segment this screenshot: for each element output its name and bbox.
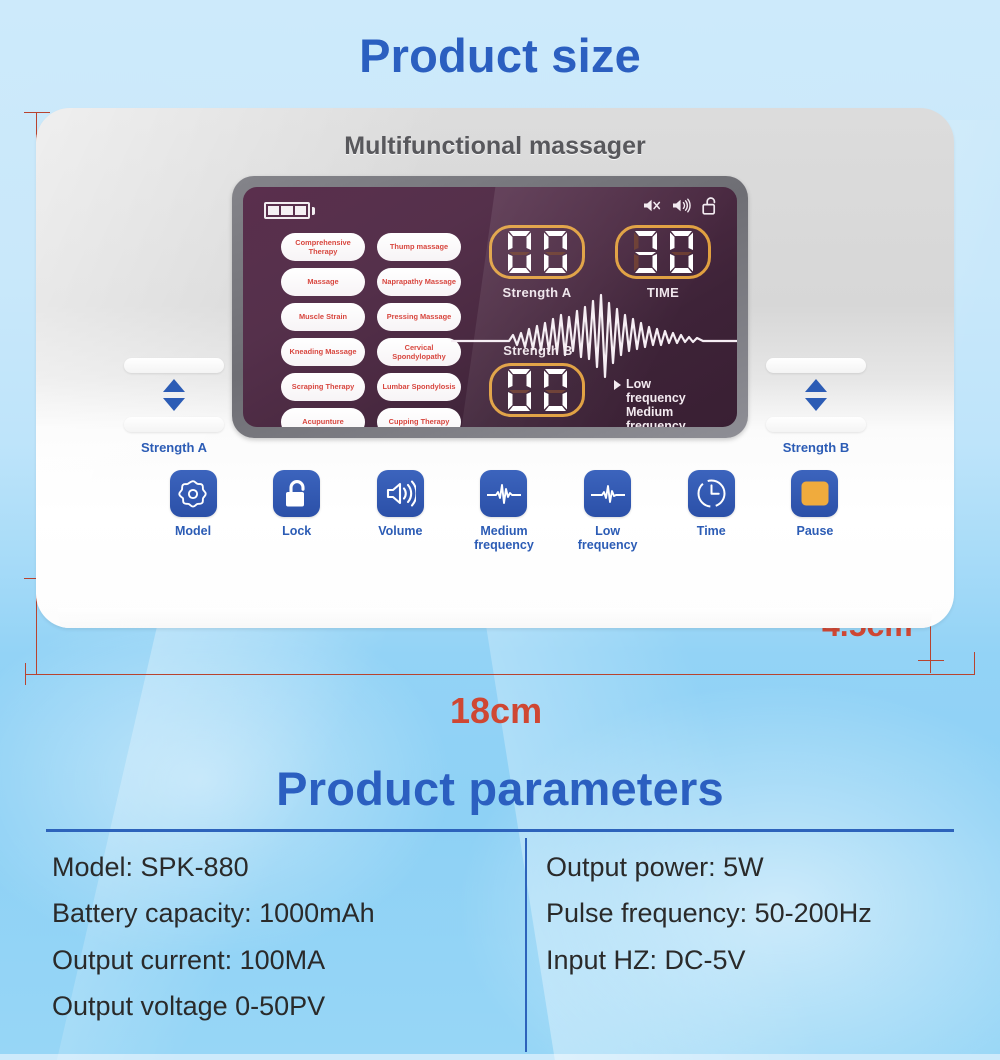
control-button-label: Mediumfrequency <box>465 524 543 552</box>
therapy-mode-button[interactable]: Cervical Spondylopathy <box>377 338 461 366</box>
control-button-label: Pause <box>776 524 854 538</box>
control-button-label: Time <box>672 524 750 538</box>
control-button-medium[interactable]: Mediumfrequency <box>465 470 543 552</box>
battery-icon <box>264 202 315 219</box>
therapy-mode-button[interactable]: Pressing Massage <box>377 303 461 331</box>
massager-device: Multifunctional massager <box>36 108 954 628</box>
parameters-section: Model: SPK-880Battery capacity: 1000mAhO… <box>46 829 954 1030</box>
dimension-tick-width-left <box>25 663 26 685</box>
control-button-label: Lock <box>258 524 336 538</box>
device-base-upper <box>58 608 932 628</box>
therapy-mode-button[interactable]: Kneading Massage <box>281 338 365 366</box>
parameters-column-1: Model: SPK-880Battery capacity: 1000mAhO… <box>46 844 500 1030</box>
unlock-icon <box>702 196 719 220</box>
therapy-mode-button[interactable]: Massage <box>281 268 365 296</box>
frequency-options-list: LowfrequencyMediumfrequency <box>614 377 686 427</box>
strength-b-label: Strength B <box>766 440 866 455</box>
dimension-line-width <box>25 674 975 675</box>
pause-square-icon <box>791 470 838 517</box>
device-brand-title: Multifunctional massager <box>36 132 954 161</box>
control-button-volume[interactable]: Volume <box>361 470 439 552</box>
therapy-mode-column-2: Thump massageNaprapathy MassagePressing … <box>377 233 461 427</box>
parameter-item: Battery capacity: 1000mAh <box>52 890 500 936</box>
control-button-low[interactable]: Lowfrequency <box>569 470 647 552</box>
therapy-mode-button[interactable]: Cupping Therapy <box>377 408 461 427</box>
parameter-item: Output current: 100MA <box>52 937 500 983</box>
lcd-status-icons <box>642 196 719 220</box>
therapy-mode-column-1: Comprehensive TherapyMassageMuscle Strai… <box>281 233 365 427</box>
strength-b-rocker[interactable]: Strength B <box>766 358 866 455</box>
frequency-option[interactable]: Mediumfrequency <box>614 405 686 427</box>
sound-on-icon <box>671 198 693 218</box>
parameter-item: Output voltage 0-50PV <box>52 983 500 1029</box>
strength-a-rocker[interactable]: Strength A <box>124 358 224 455</box>
control-button-row: ModelLockVolumeMediumfrequencyLowfrequen… <box>154 470 854 552</box>
parameter-item: Output power: 5W <box>546 844 954 890</box>
unlock-padlock-icon <box>273 470 320 517</box>
frequency-option[interactable]: Lowfrequency <box>614 377 686 405</box>
chevron-up-icon <box>805 379 827 392</box>
therapy-mode-button[interactable]: Comprehensive Therapy <box>281 233 365 261</box>
chevron-down-icon <box>805 398 827 411</box>
therapy-mode-button[interactable]: Scraping Therapy <box>281 373 365 401</box>
frequency-option-label: Mediumfrequency <box>626 405 686 427</box>
control-button-pause[interactable]: Pause <box>776 470 854 552</box>
parameter-item: Model: SPK-880 <box>52 844 500 890</box>
parameter-item: Input HZ: DC-5V <box>546 937 954 983</box>
dimension-tick-width-right <box>974 652 975 674</box>
control-button-label: Lowfrequency <box>569 524 647 552</box>
lcd-screen: Comprehensive TherapyMassageMuscle Strai… <box>243 187 737 427</box>
readout-strength-a <box>489 225 585 279</box>
therapy-mode-button[interactable]: Muscle Strain <box>281 303 365 331</box>
dimension-tick-depth-bottom <box>918 660 944 661</box>
strength-b-decrease-button[interactable] <box>766 417 866 432</box>
control-button-model[interactable]: Model <box>154 470 232 552</box>
waveform-graphic <box>451 293 737 381</box>
control-button-label: Model <box>154 524 232 538</box>
therapy-mode-button[interactable]: Acupunture <box>281 408 365 427</box>
sound-muted-icon <box>642 198 662 218</box>
therapy-mode-button[interactable]: Thump massage <box>377 233 461 261</box>
volume-icon <box>377 470 424 517</box>
selection-caret-icon <box>614 380 621 390</box>
chevron-up-icon <box>163 379 185 392</box>
parameter-item: Pulse frequency: 50-200Hz <box>546 890 954 936</box>
clock-icon <box>688 470 735 517</box>
strength-b-increase-button[interactable] <box>766 358 866 373</box>
waveform-medium-icon <box>480 470 527 517</box>
parameters-divider <box>525 838 527 1052</box>
frequency-option-label: Lowfrequency <box>626 377 686 405</box>
readout-time <box>615 225 711 279</box>
page-title-product-size: Product size <box>0 28 1000 83</box>
strength-a-increase-button[interactable] <box>124 358 224 373</box>
therapy-mode-button[interactable]: Naprapathy Massage <box>377 268 461 296</box>
page-title-product-parameters: Product parameters <box>0 761 1000 816</box>
strength-a-decrease-button[interactable] <box>124 417 224 432</box>
control-button-label: Volume <box>361 524 439 538</box>
gear-icon <box>170 470 217 517</box>
chevron-down-icon <box>163 398 185 411</box>
control-button-lock[interactable]: Lock <box>258 470 336 552</box>
lcd-bezel: Comprehensive TherapyMassageMuscle Strai… <box>232 176 748 438</box>
control-button-time[interactable]: Time <box>672 470 750 552</box>
waveform-low-icon <box>584 470 631 517</box>
dimension-label-width: 18cm <box>450 690 542 732</box>
therapy-mode-button[interactable]: Lumbar Spondylosis <box>377 373 461 401</box>
parameters-column-2: Output power: 5WPulse frequency: 50-200H… <box>500 844 954 1030</box>
strength-a-label: Strength A <box>124 440 224 455</box>
